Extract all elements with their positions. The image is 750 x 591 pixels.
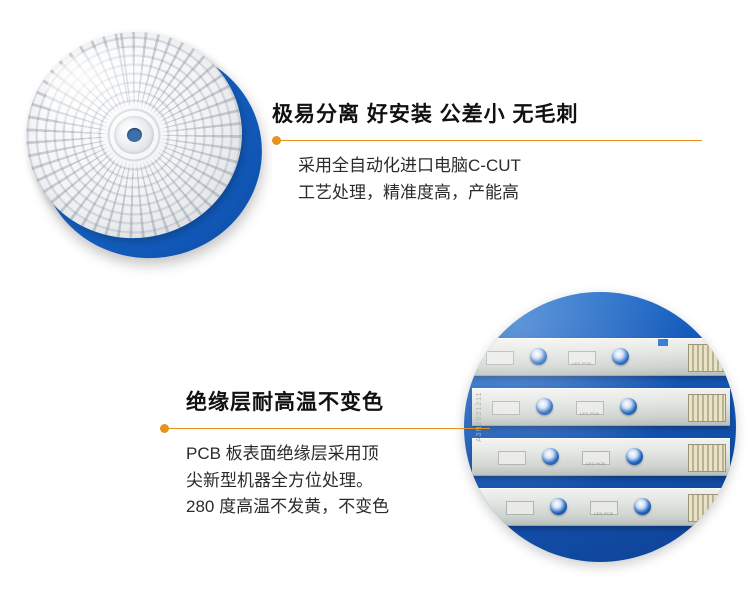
feature-block-bottom: 绝缘层耐高温不变色 PCB 板表面绝缘层采用顶 尖新型机器全方位处理。 280 … (160, 390, 490, 520)
strip-chip (486, 351, 514, 365)
feature-bottom-divider (160, 424, 490, 433)
pcb-strip-3: LED PCB (472, 438, 730, 476)
strip-chip (506, 501, 534, 515)
strip-led-dot (620, 398, 637, 415)
feature-bottom-body-line-3: 280 度高温不发黄，不变色 (186, 494, 490, 520)
strip-micro-label: LED PCB (594, 511, 613, 516)
feature-top-body: 采用全自动化进口电脑C-CUT 工艺处理，精准度高，产能高 (272, 153, 702, 206)
strip-chip (498, 451, 526, 465)
strip-micro-label: LED PCB (586, 461, 605, 466)
divider-line (169, 428, 490, 429)
feature-top-body-line-1: 采用全自动化进口电脑C-CUT (298, 153, 702, 179)
bullet-dot-icon (160, 424, 169, 433)
pcb-strip-2: LED PCB (472, 388, 730, 426)
strip-led-dot (626, 448, 643, 465)
feature-bottom-body: PCB 板表面绝缘层采用顶 尖新型机器全方位处理。 280 度高温不发黄，不变色 (160, 441, 490, 520)
product-photo-round-pcb (14, 18, 272, 280)
divider-line (281, 140, 702, 141)
strip-led-dot (542, 448, 559, 465)
strip-micro-label: LED PCB (580, 411, 599, 416)
strip-blue-tab (658, 339, 668, 346)
feature-top-headline: 极易分离 好安装 公差小 无毛刺 (272, 102, 702, 127)
strip-connector (688, 344, 726, 372)
strip-connector (688, 494, 726, 522)
strip-connector (688, 394, 726, 422)
feature-bottom-body-line-1: PCB 板表面绝缘层采用顶 (186, 441, 490, 467)
bullet-dot-icon (272, 136, 281, 145)
strip-led-dot (530, 348, 547, 365)
strip-connector (688, 444, 726, 472)
promo-page: 极易分离 好安装 公差小 无毛刺 采用全自动化进口电脑C-CUT 工艺处理，精准… (0, 0, 750, 591)
feature-bottom-headline: 绝缘层耐高温不变色 (160, 390, 490, 415)
strip-led-dot (536, 398, 553, 415)
strip-micro-label: LED PCB (572, 361, 591, 366)
strip-led-dot (550, 498, 567, 515)
feature-top-body-line-2: 工艺处理，精准度高，产能高 (298, 180, 702, 206)
strip-led-dot (612, 348, 629, 365)
feature-block-top: 极易分离 好安装 公差小 无毛刺 采用全自动化进口电脑C-CUT 工艺处理，精准… (272, 102, 702, 206)
strip-led-dot (634, 498, 651, 515)
strip-chip (492, 401, 520, 415)
product-photo-pcb-strips: LED PCB LED PCB LED PCB LED PCB A3 (464, 292, 736, 562)
feature-bottom-body-line-2: 尖新型机器全方位处理。 (186, 468, 490, 494)
pcb-strip-4: LED PCB (472, 488, 730, 526)
pcb-strip-1: LED PCB (472, 338, 730, 376)
feature-top-divider (272, 136, 702, 145)
